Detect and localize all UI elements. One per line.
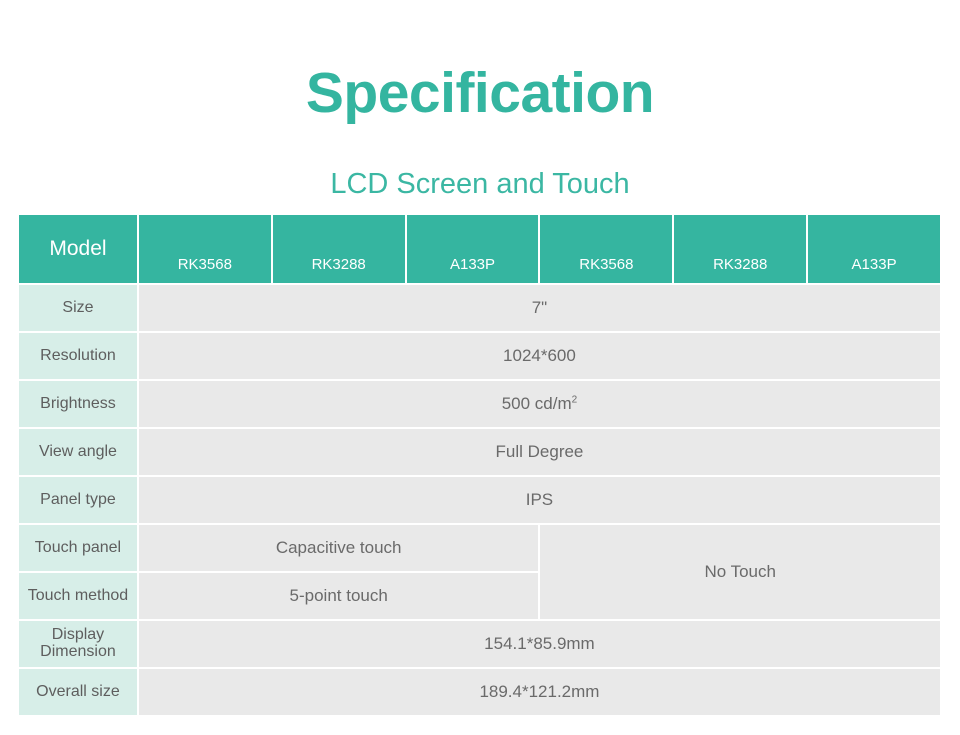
display-dimension-line2: Dimension bbox=[40, 643, 116, 660]
row-value-touch-method: 5-point touch bbox=[139, 573, 539, 619]
specification-page: Specification LCD Screen and Touch Model… bbox=[0, 0, 960, 735]
row-label-brightness: Brightness bbox=[19, 381, 137, 427]
header-model-2: RK3288 bbox=[273, 215, 405, 283]
table-row: Size 7" bbox=[19, 285, 940, 331]
row-label-size: Size bbox=[19, 285, 137, 331]
row-label-resolution: Resolution bbox=[19, 333, 137, 379]
display-dimension-line1: Display bbox=[52, 626, 104, 643]
row-value-size: 7" bbox=[139, 285, 940, 331]
row-label-view-angle: View angle bbox=[19, 429, 137, 475]
table-row: Resolution 1024*600 bbox=[19, 333, 940, 379]
specification-table: Model RK3568 RK3288 A133P RK3568 RK3288 … bbox=[17, 213, 942, 717]
row-label-panel-type: Panel type bbox=[19, 477, 137, 523]
table-row: Overall size 189.4*121.2mm bbox=[19, 669, 940, 715]
page-title: Specification bbox=[0, 62, 960, 125]
header-model-3: A133P bbox=[407, 215, 539, 283]
row-label-display-dimension: DisplayDimension bbox=[19, 621, 137, 667]
brightness-value-base: 500 cd/m bbox=[502, 394, 572, 413]
table-header-row: Model RK3568 RK3288 A133P RK3568 RK3288 … bbox=[19, 215, 940, 283]
row-value-panel-type: IPS bbox=[139, 477, 940, 523]
row-value-overall-size: 189.4*121.2mm bbox=[139, 669, 940, 715]
brightness-value-superscript: 2 bbox=[572, 394, 578, 405]
row-label-touch-method: Touch method bbox=[19, 573, 137, 619]
table-row: Touch panel Capacitive touch No Touch bbox=[19, 525, 940, 571]
table-row: Panel type IPS bbox=[19, 477, 940, 523]
table-row: View angle Full Degree bbox=[19, 429, 940, 475]
row-value-brightness: 500 cd/m2 bbox=[139, 381, 940, 427]
row-value-touch-panel: Capacitive touch bbox=[139, 525, 539, 571]
header-model-4: RK3568 bbox=[540, 215, 672, 283]
row-label-overall-size: Overall size bbox=[19, 669, 137, 715]
row-value-view-angle: Full Degree bbox=[139, 429, 940, 475]
merged-value-no-touch: No Touch bbox=[540, 525, 940, 619]
row-label-touch-panel: Touch panel bbox=[19, 525, 137, 571]
table-row: DisplayDimension 154.1*85.9mm bbox=[19, 621, 940, 667]
row-value-resolution: 1024*600 bbox=[139, 333, 940, 379]
header-model-label: Model bbox=[19, 215, 137, 283]
table-row: Brightness 500 cd/m2 bbox=[19, 381, 940, 427]
header-model-1: RK3568 bbox=[139, 215, 271, 283]
page-subtitle: LCD Screen and Touch bbox=[0, 167, 960, 202]
header-model-5: RK3288 bbox=[674, 215, 806, 283]
row-value-display-dimension: 154.1*85.9mm bbox=[139, 621, 940, 667]
header-model-6: A133P bbox=[808, 215, 940, 283]
